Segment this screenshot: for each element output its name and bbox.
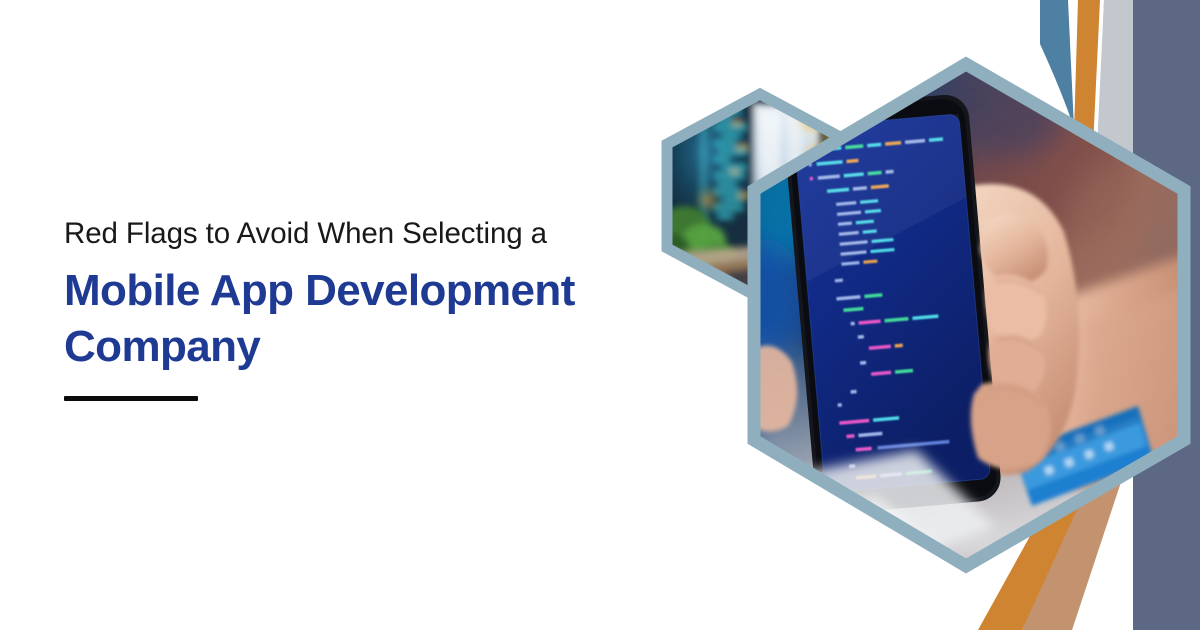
title-underline-rule — [64, 396, 198, 401]
headline-main-line-2: Company — [64, 319, 644, 375]
banner-canvas: Red Flags to Avoid When Selecting a Mobi… — [0, 0, 1200, 630]
headline-kicker: Red Flags to Avoid When Selecting a — [64, 214, 644, 254]
hexagon-phone-photo — [746, 54, 1194, 574]
headline-main: Mobile App Development Company — [64, 263, 644, 376]
headline-main-line-1: Mobile App Development — [64, 263, 644, 319]
headline-block: Red Flags to Avoid When Selecting a Mobi… — [64, 214, 644, 375]
